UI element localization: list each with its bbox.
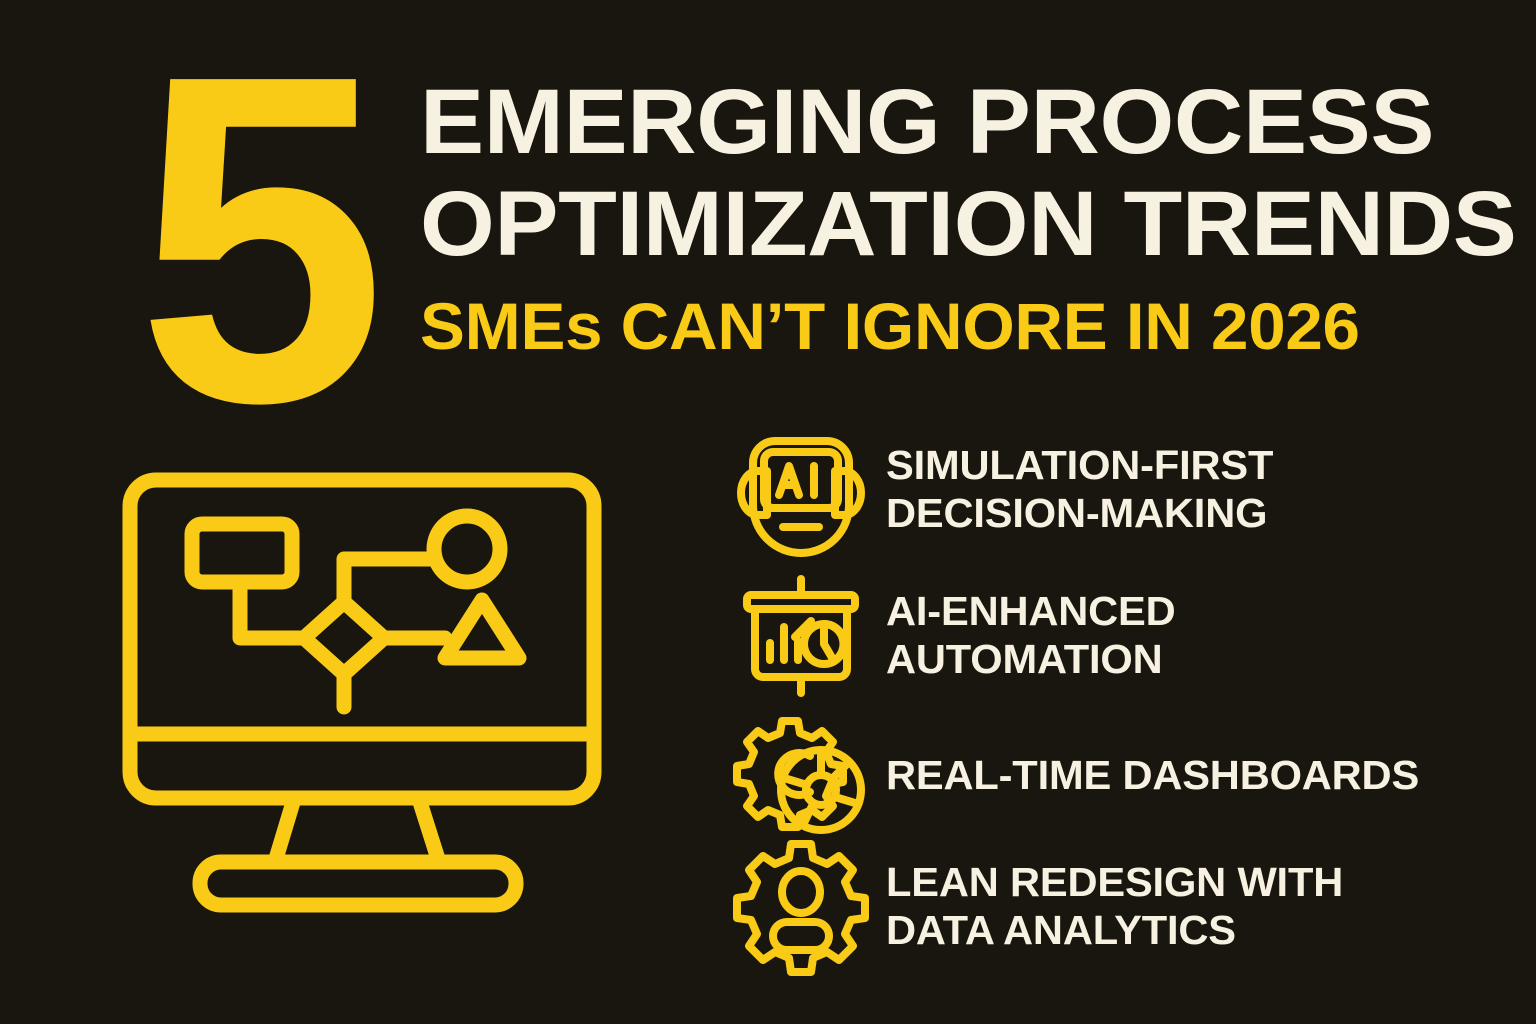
board-pie-wedge xyxy=(824,624,843,661)
subheadline: SMEs CAN’T IGNORE IN 2026 xyxy=(420,290,1501,362)
gear-user-icon xyxy=(731,836,871,976)
monitor-stand-right xyxy=(419,799,439,862)
trend-icon-1 xyxy=(716,419,886,559)
flow-node-diamond xyxy=(304,602,384,674)
trend-row-1[interactable]: SIMULATION-FIRST DECISION-MAKING xyxy=(716,424,1516,554)
trend-icon-3 xyxy=(716,705,886,845)
flow-connector-diamond-to-circle xyxy=(344,559,434,602)
big-number-five: 5 xyxy=(104,28,410,452)
presentation-chart-board-icon xyxy=(731,565,871,705)
trend-icon-4 xyxy=(716,836,886,976)
trend-row-4[interactable]: LEAN REDESIGN WITH DATA ANALYTICS xyxy=(716,836,1516,976)
trend-label-2: AI-ENHANCED AUTOMATION xyxy=(886,587,1525,683)
headline-block: EMERGING PROCESS OPTIMIZATION TRENDS SME… xyxy=(420,72,1480,362)
pie-spoke-5 xyxy=(784,778,807,785)
flow-connector-rect-to-diamond xyxy=(240,582,304,638)
flow-node-rectangle xyxy=(192,524,292,582)
headline-line-2: OPTIMIZATION TRENDS xyxy=(420,174,1528,274)
process-flowchart-monitor-illustration xyxy=(112,462,612,922)
subheadline-part-2: CAN’T IGNORE IN 2026 xyxy=(621,289,1360,363)
pie-spoke-4 xyxy=(803,804,813,825)
monitor-svg xyxy=(112,462,612,922)
flow-node-triangle xyxy=(445,600,519,658)
trend-row-3[interactable]: REAL-TIME DASHBOARDS xyxy=(716,712,1516,837)
flow-node-circle xyxy=(434,516,500,582)
robot-visor xyxy=(764,452,838,508)
subheadline-part-1: SMEs xyxy=(420,289,602,363)
monitor-base xyxy=(200,862,516,905)
user-body xyxy=(773,922,829,950)
robot-letter-a xyxy=(779,466,799,495)
board-rail xyxy=(747,595,855,609)
monitor-stand-left xyxy=(275,799,294,862)
infographic-canvas: 5 EMERGING PROCESS OPTIMIZATION TRENDS S… xyxy=(0,0,1536,1024)
ai-robot-head-icon xyxy=(731,419,871,559)
pie-spoke-3 xyxy=(835,797,855,803)
trend-list: SIMULATION-FIRST DECISION-MAKING xyxy=(716,418,1516,988)
gear-pie-chart-icon xyxy=(731,705,871,845)
trend-row-2[interactable]: AI-ENHANCED AUTOMATION xyxy=(716,570,1516,700)
trend-label-3: REAL-TIME DASHBOARDS xyxy=(886,751,1525,799)
trend-icon-2 xyxy=(716,565,886,705)
trend-label-1: SIMULATION-FIRST DECISION-MAKING xyxy=(886,441,1525,537)
trend-label-4: LEAN REDESIGN WITH DATA ANALYTICS xyxy=(886,858,1525,954)
headline-line-1: EMERGING PROCESS xyxy=(420,72,1528,172)
user-head xyxy=(782,871,820,913)
